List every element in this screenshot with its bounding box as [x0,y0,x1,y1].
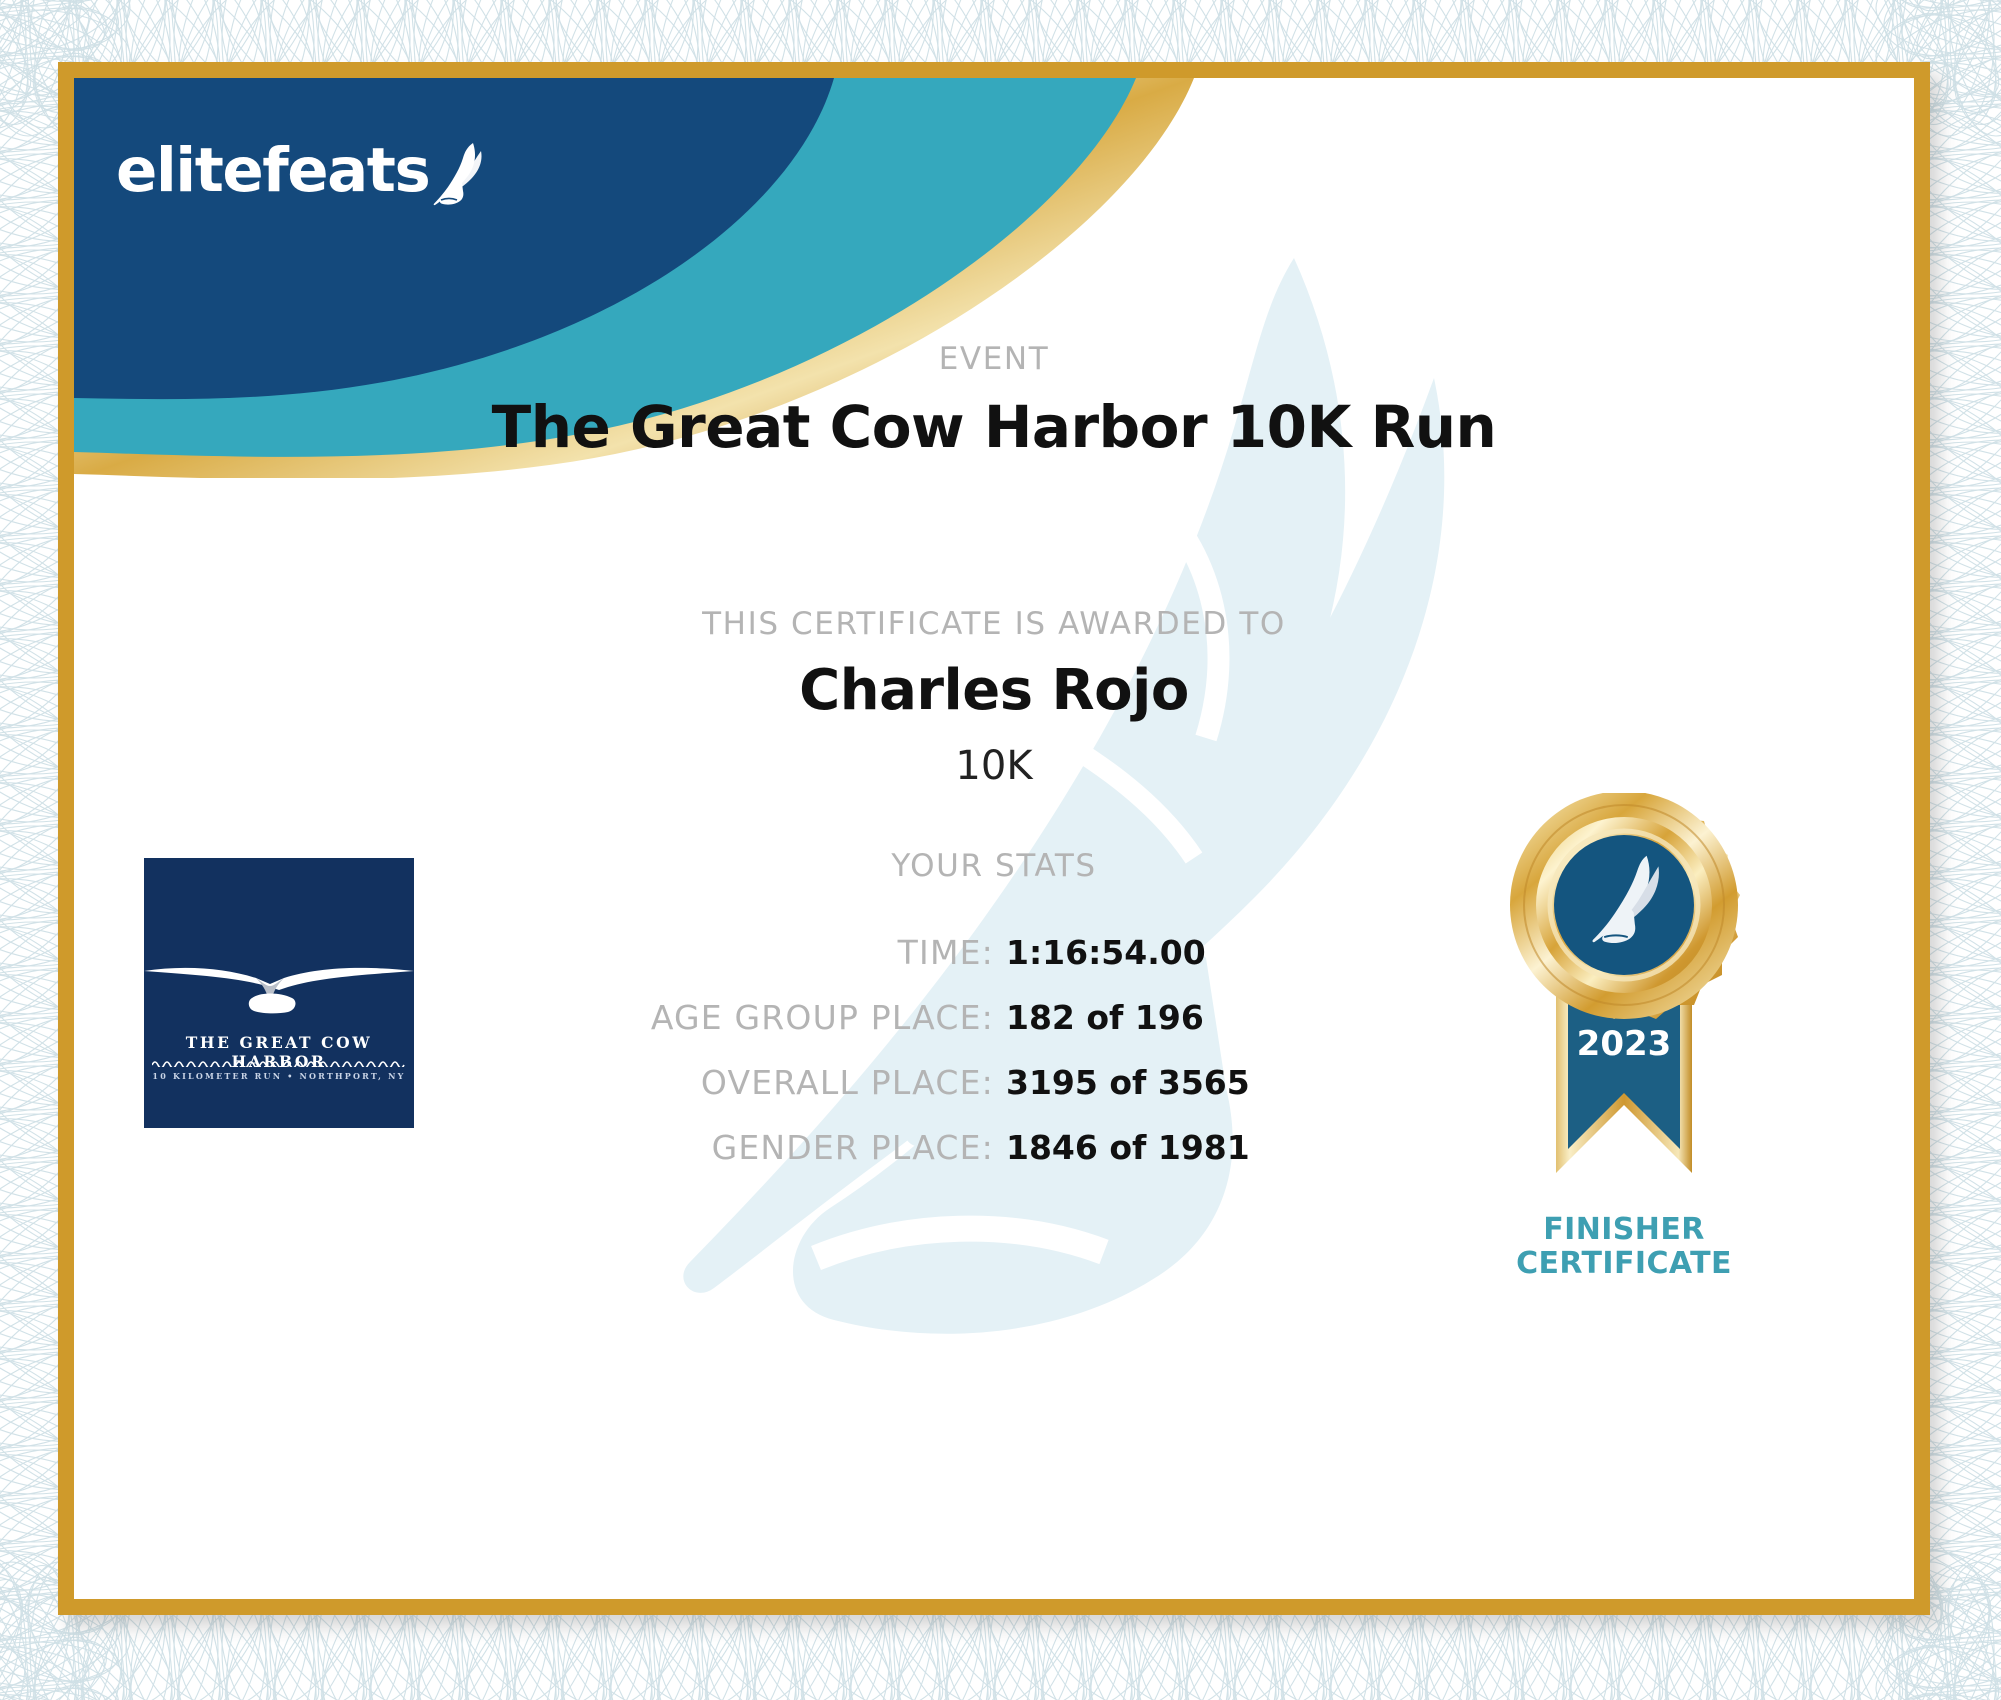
wavy-divider-icon [152,1059,406,1067]
event-logo-subtitle: 10 KILOMETER RUN • NORTHPORT, NY [144,1071,414,1081]
finisher-medal: 2023 FINISHER CERTIFICATE [1474,793,1774,1313]
certificate-frame: elitefeats EVENT The Great Cow Harbor 10… [58,62,1930,1615]
event-caption: EVENT [74,341,1914,377]
finisher-label: FINISHER [1474,1213,1774,1247]
recipient-name: Charles Rojo [74,658,1914,723]
event-logo: THE GREAT COW HARBOR 10 KILOMETER RUN • … [144,858,414,1128]
awarded-to-caption: THIS CERTIFICATE IS AWARDED TO [74,606,1914,642]
finisher-certificate-caption: FINISHER CERTIFICATE [1474,1213,1774,1280]
certificate-label: CERTIFICATE [1474,1247,1774,1281]
certificate-page: elitefeats EVENT The Great Cow Harbor 10… [0,0,2001,1700]
event-title: The Great Cow Harbor 10K Run [74,393,1914,461]
medal-rosette-icon: 2023 [1474,793,1774,1233]
race-distance: 10K [74,743,1914,789]
stat-label: GENDER PLACE: [294,1128,994,1167]
medal-year-text: 2023 [1577,1024,1672,1064]
seagull-icon [144,954,414,1016]
